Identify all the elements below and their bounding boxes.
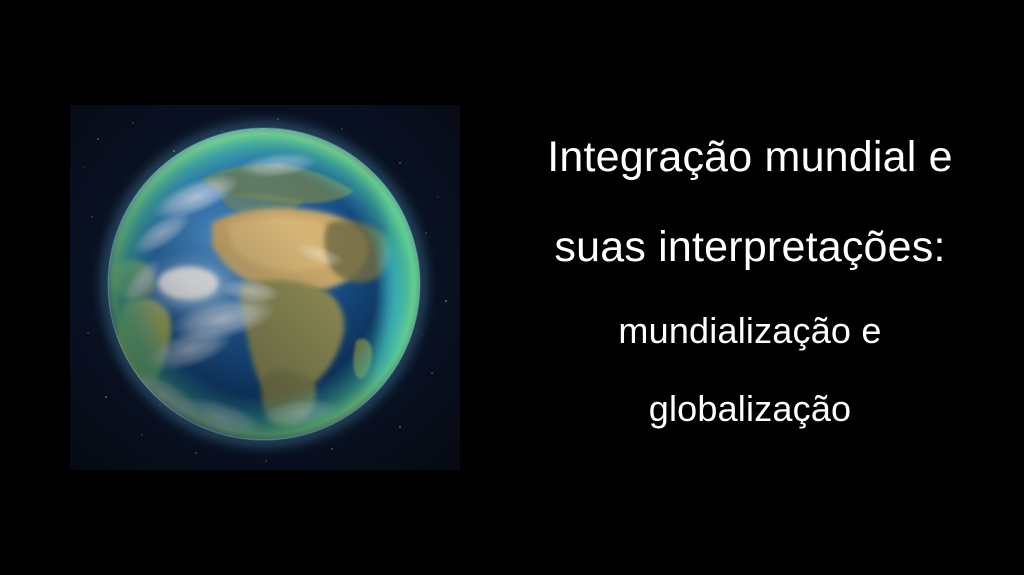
title-block: Integração mundial e suas interpretações… <box>486 112 1014 462</box>
title-line-1: Integração mundial e <box>547 112 953 202</box>
title-line-4: globalização <box>649 370 852 448</box>
earth-illustration <box>70 105 460 470</box>
title-line-2: suas interpretações: <box>554 202 945 292</box>
night-shading <box>108 128 420 440</box>
slide-canvas: Integração mundial e suas interpretações… <box>0 0 1024 575</box>
title-line-3: mundialização e <box>618 292 881 370</box>
earth-image <box>70 105 460 470</box>
